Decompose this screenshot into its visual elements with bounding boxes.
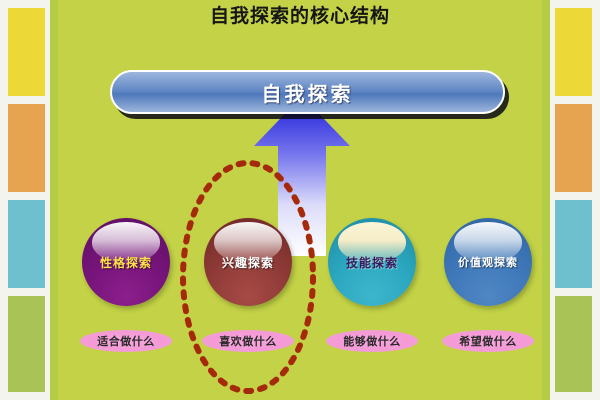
diagram-stage: 自我探索的核心结构 自我探索 — [58, 0, 542, 400]
right-swatch-orange — [555, 104, 592, 192]
left-color-rail — [0, 0, 58, 400]
node-label-value: 价值观探索 — [458, 254, 518, 270]
caption-text-value: 希望做什么 — [459, 333, 517, 349]
right-swatch-yellow — [555, 8, 592, 96]
main-banner[interactable]: 自我探索 — [110, 70, 505, 114]
node-label-skill: 技能探索 — [346, 254, 398, 271]
main-banner-label: 自我探索 — [262, 78, 354, 107]
node-circle-personality[interactable]: 性格探索 — [82, 218, 170, 306]
page-title: 自我探索的核心结构 — [58, 2, 542, 32]
caption-text-personality: 适合做什么 — [97, 333, 155, 349]
caption-pill-interest: 喜欢做什么 — [202, 330, 294, 352]
right-green-strip — [542, 0, 550, 400]
node-circle-value[interactable]: 价值观探索 — [444, 218, 532, 306]
caption-pill-value: 希望做什么 — [442, 330, 534, 352]
right-swatch-green — [555, 296, 592, 392]
caption-text-interest: 喜欢做什么 — [219, 333, 277, 349]
diagram-canvas: 自我探索的核心结构 自我探索 — [0, 0, 600, 400]
right-swatch-teal — [555, 200, 592, 288]
left-swatch-green — [8, 296, 45, 392]
caption-pill-personality: 适合做什么 — [80, 330, 172, 352]
caption-pill-skill: 能够做什么 — [326, 330, 418, 352]
node-label-personality: 性格探索 — [100, 254, 152, 271]
node-label-interest: 兴趣探索 — [222, 254, 274, 271]
left-green-strip — [50, 0, 58, 400]
right-color-rail — [542, 0, 600, 400]
node-circle-interest[interactable]: 兴趣探索 — [204, 218, 292, 306]
left-swatch-orange — [8, 104, 45, 192]
caption-text-skill: 能够做什么 — [343, 333, 401, 349]
left-swatch-teal — [8, 200, 45, 288]
node-circle-skill[interactable]: 技能探索 — [328, 218, 416, 306]
left-swatch-yellow — [8, 8, 45, 96]
